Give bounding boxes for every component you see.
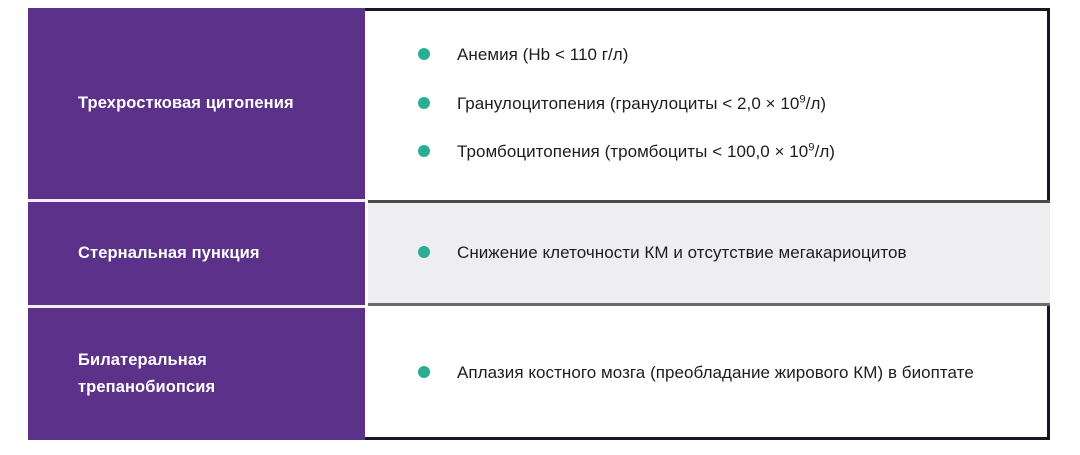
label-cell-row-1: Трехростковая цитопения xyxy=(28,8,365,199)
content-column: Анемия (Hb < 110 г/л) Гранулоцитопения (… xyxy=(368,8,1050,440)
label-cell-row-2: Стернальная пункция xyxy=(28,202,365,305)
bullet-text: Тромбоцитопения (тромбоциты < 100,0 × 10… xyxy=(457,139,835,165)
bullet-dot-icon xyxy=(418,97,430,109)
list-item: Анемия (Hb < 110 г/л) xyxy=(418,42,1024,68)
bullet-dot-icon xyxy=(418,246,430,258)
label-text-row-1: Трехростковая цитопения xyxy=(78,90,294,117)
content-cell-row-1: Анемия (Hb < 110 г/л) Гранулоцитопения (… xyxy=(368,8,1050,200)
bullet-text: Снижение клеточности КМ и отсутствие мег… xyxy=(457,240,907,266)
bullet-dot-icon xyxy=(418,366,430,378)
label-text-row-3: Билатеральная трепанобиопсия xyxy=(78,347,215,400)
list-item: Тромбоцитопения (тромбоциты < 100,0 × 10… xyxy=(418,139,1024,165)
bullet-dot-icon xyxy=(418,145,430,157)
content-cell-row-2: Снижение клеточности КМ и отсутствие мег… xyxy=(368,200,1050,306)
bullet-dot-icon xyxy=(418,48,430,60)
exponent: 9 xyxy=(799,93,805,105)
list-item: Гранулоцитопения (гранулоциты < 2,0 × 10… xyxy=(418,91,1024,117)
exponent: 9 xyxy=(808,142,814,154)
bullet-text: Гранулоцитопения (гранулоциты < 2,0 × 10… xyxy=(457,91,826,117)
list-item: Аплазия костного мозга (преобладание жир… xyxy=(418,360,1024,386)
label-text-row-2: Стернальная пункция xyxy=(78,240,260,267)
content-cell-row-3: Аплазия костного мозга (преобладание жир… xyxy=(368,306,1050,440)
slide-canvas: Трехростковая цитопения Стернальная пунк… xyxy=(0,0,1080,455)
bullet-text: Аплазия костного мозга (преобладание жир… xyxy=(457,360,974,386)
label-cell-row-3: Билатеральная трепанобиопсия xyxy=(28,308,365,440)
bullet-text: Анемия (Hb < 110 г/л) xyxy=(457,42,628,68)
label-column: Трехростковая цитопения Стернальная пунк… xyxy=(28,8,365,440)
list-item: Снижение клеточности КМ и отсутствие мег… xyxy=(418,240,1024,266)
